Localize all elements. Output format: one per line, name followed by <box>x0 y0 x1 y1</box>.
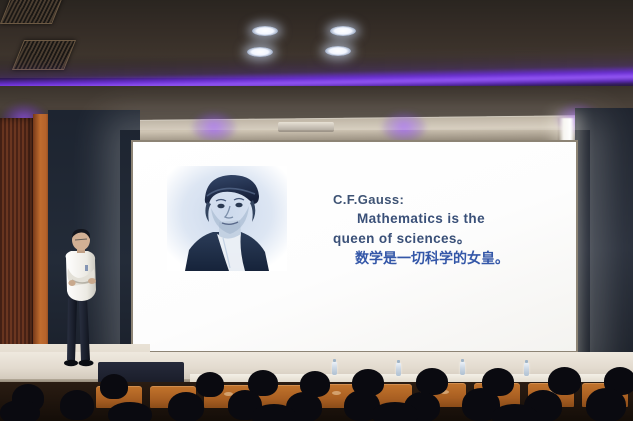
water-bottle <box>460 362 465 375</box>
slide-quote-line-2: queen of sciences。 <box>333 229 563 249</box>
slide-text-block: C.F.Gauss: Mathematics is the queen of s… <box>333 190 563 270</box>
projection-screen: C.F.Gauss: Mathematics is the queen of s… <box>133 142 576 351</box>
water-bottle <box>332 362 337 375</box>
slide-quote-chinese: 数学是一切科学的女皇。 <box>333 249 563 270</box>
led-spill-light <box>382 112 426 142</box>
audience-head <box>548 367 581 395</box>
audience-head <box>586 388 626 421</box>
water-bottle <box>396 363 401 376</box>
wall-dark-right <box>575 108 633 364</box>
audience-head <box>0 400 40 421</box>
audience-head <box>108 402 152 421</box>
audience-head <box>372 402 418 421</box>
ceiling-downlight <box>252 26 278 36</box>
lecture-hall-photo: C.F.Gauss: Mathematics is the queen of s… <box>0 0 633 421</box>
led-spill-light <box>192 112 236 142</box>
audience-head <box>100 374 128 399</box>
gauss-portrait-image <box>167 166 287 271</box>
presenter-figure <box>52 228 112 368</box>
ceiling-downlight <box>330 26 356 36</box>
audience-head <box>168 392 204 421</box>
seat-plate-icon <box>332 391 341 395</box>
audience-head <box>252 404 296 421</box>
slide-attribution: C.F.Gauss: <box>333 190 563 209</box>
slide-quote-line-1: Mathematics is the <box>333 209 563 229</box>
wall-wood-slats <box>0 118 34 368</box>
audience-head <box>416 368 448 395</box>
audience-head <box>196 372 224 397</box>
ceiling-fixture <box>278 122 334 132</box>
ceiling-downlight <box>325 46 351 56</box>
water-bottle <box>524 363 529 376</box>
audience-head <box>60 390 94 420</box>
ceiling-downlight <box>247 47 273 57</box>
audience-head <box>492 404 538 421</box>
